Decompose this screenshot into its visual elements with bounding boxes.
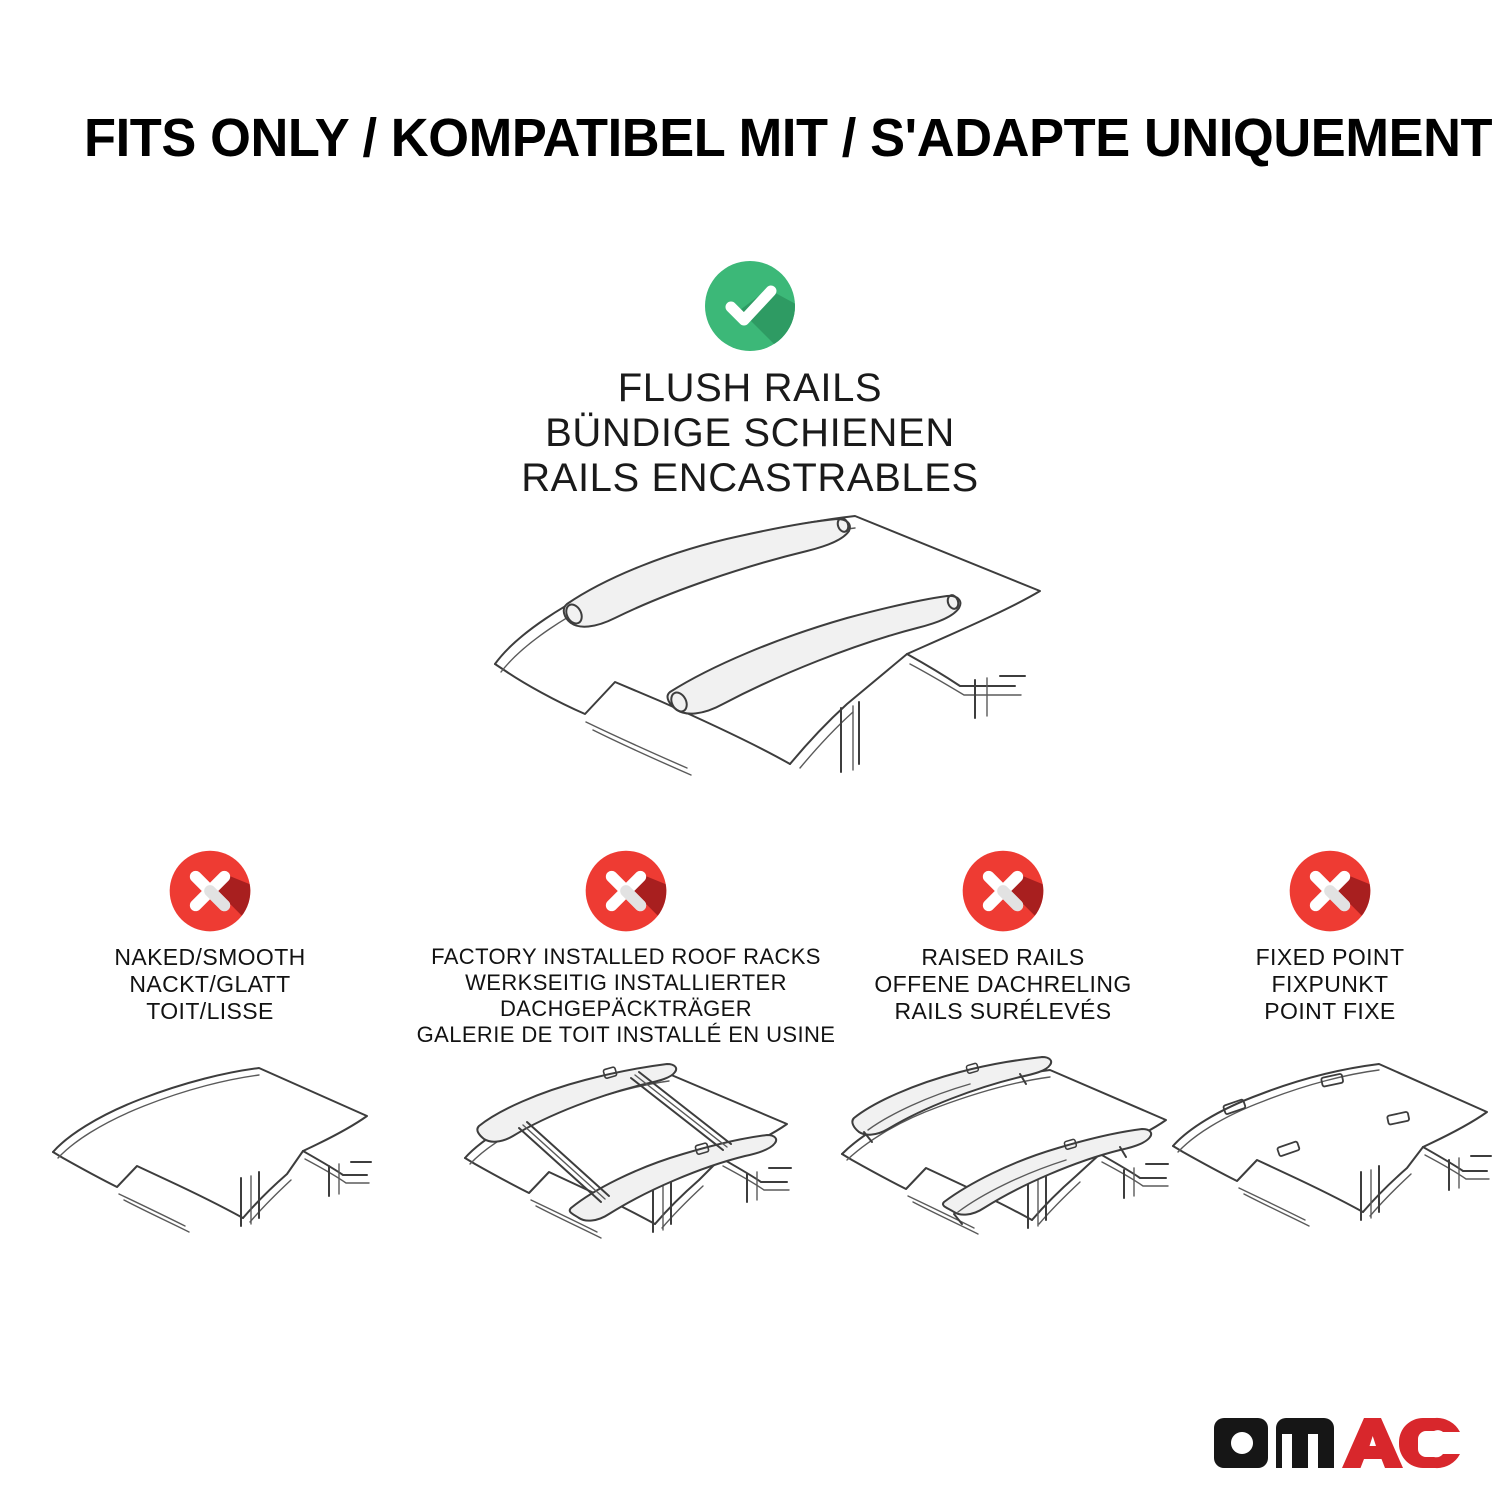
label-line-1: RAISED RAILS [838, 944, 1168, 971]
compatible-section: FLUSH RAILS BÜNDIGE SCHIENEN RAILS ENCAS… [0, 258, 1500, 501]
car-roof-fixed-point-illustration [1165, 1054, 1495, 1274]
cross-circle-icon [960, 848, 1046, 934]
incompatible-item-naked-smooth: NAKED/SMOOTH NACKT/GLATT TOIT/LISSE [40, 848, 380, 1025]
label-line-4: GALERIE DE TOIT INSTALLÉ EN USINE [400, 1022, 852, 1048]
car-roof-naked-smooth-illustration [45, 1054, 375, 1274]
label-line-3: RAILS SURÉLEVÉS [838, 998, 1168, 1025]
incompatible-item-fixed-point: FIXED POINT FIXPUNKT POINT FIXE [1180, 848, 1480, 1025]
cross-circle-icon [167, 848, 253, 934]
incompatible-label-naked-smooth: NAKED/SMOOTH NACKT/GLATT TOIT/LISSE [40, 944, 380, 1025]
car-roof-factory-roof-racks-illustration [451, 1054, 801, 1274]
label-line-2: NACKT/GLATT [40, 971, 380, 998]
label-line-2: OFFENE DACHRELING [838, 971, 1168, 998]
cross-circle-icon [583, 848, 669, 934]
compatible-label-line-3: RAILS ENCASTRABLES [0, 456, 1500, 501]
page-title: FITS ONLY / KOMPATIBEL MIT / S'ADAPTE UN… [84, 108, 1384, 168]
incompatible-item-raised-rails: RAISED RAILS OFFENE DACHRELING RAILS SUR… [838, 848, 1168, 1025]
compatible-label-line-2: BÜNDIGE SCHIENEN [0, 411, 1500, 456]
check-circle-icon [702, 258, 798, 354]
label-line-3: TOIT/LISSE [40, 998, 380, 1025]
incompatible-label-raised-rails: RAISED RAILS OFFENE DACHRELING RAILS SUR… [838, 944, 1168, 1025]
incompatible-section: NAKED/SMOOTH NACKT/GLATT TOIT/LISSE [0, 848, 1500, 1288]
label-line-3: POINT FIXE [1180, 998, 1480, 1025]
label-line-1: NAKED/SMOOTH [40, 944, 380, 971]
car-roof-flush-rails-illustration [455, 496, 1055, 796]
omac-logo: OMAC [1212, 1404, 1462, 1482]
compatible-label-line-1: FLUSH RAILS [0, 366, 1500, 411]
label-line-1: FACTORY INSTALLED ROOF RACKS [400, 944, 852, 970]
compatible-label: FLUSH RAILS BÜNDIGE SCHIENEN RAILS ENCAS… [0, 366, 1500, 501]
label-line-2: WERKSEITIG INSTALLIERTER [400, 970, 852, 996]
label-line-3: DACHGEPÄCKTRÄGER [400, 996, 852, 1022]
label-line-1: FIXED POINT [1180, 944, 1480, 971]
label-line-2: FIXPUNKT [1180, 971, 1480, 998]
incompatible-item-factory-roof-racks: FACTORY INSTALLED ROOF RACKS WERKSEITIG … [400, 848, 852, 1048]
incompatible-label-factory-roof-racks: FACTORY INSTALLED ROOF RACKS WERKSEITIG … [400, 944, 852, 1048]
car-roof-raised-rails-illustration [828, 1054, 1178, 1274]
incompatible-label-fixed-point: FIXED POINT FIXPUNKT POINT FIXE [1180, 944, 1480, 1025]
cross-circle-icon [1287, 848, 1373, 934]
